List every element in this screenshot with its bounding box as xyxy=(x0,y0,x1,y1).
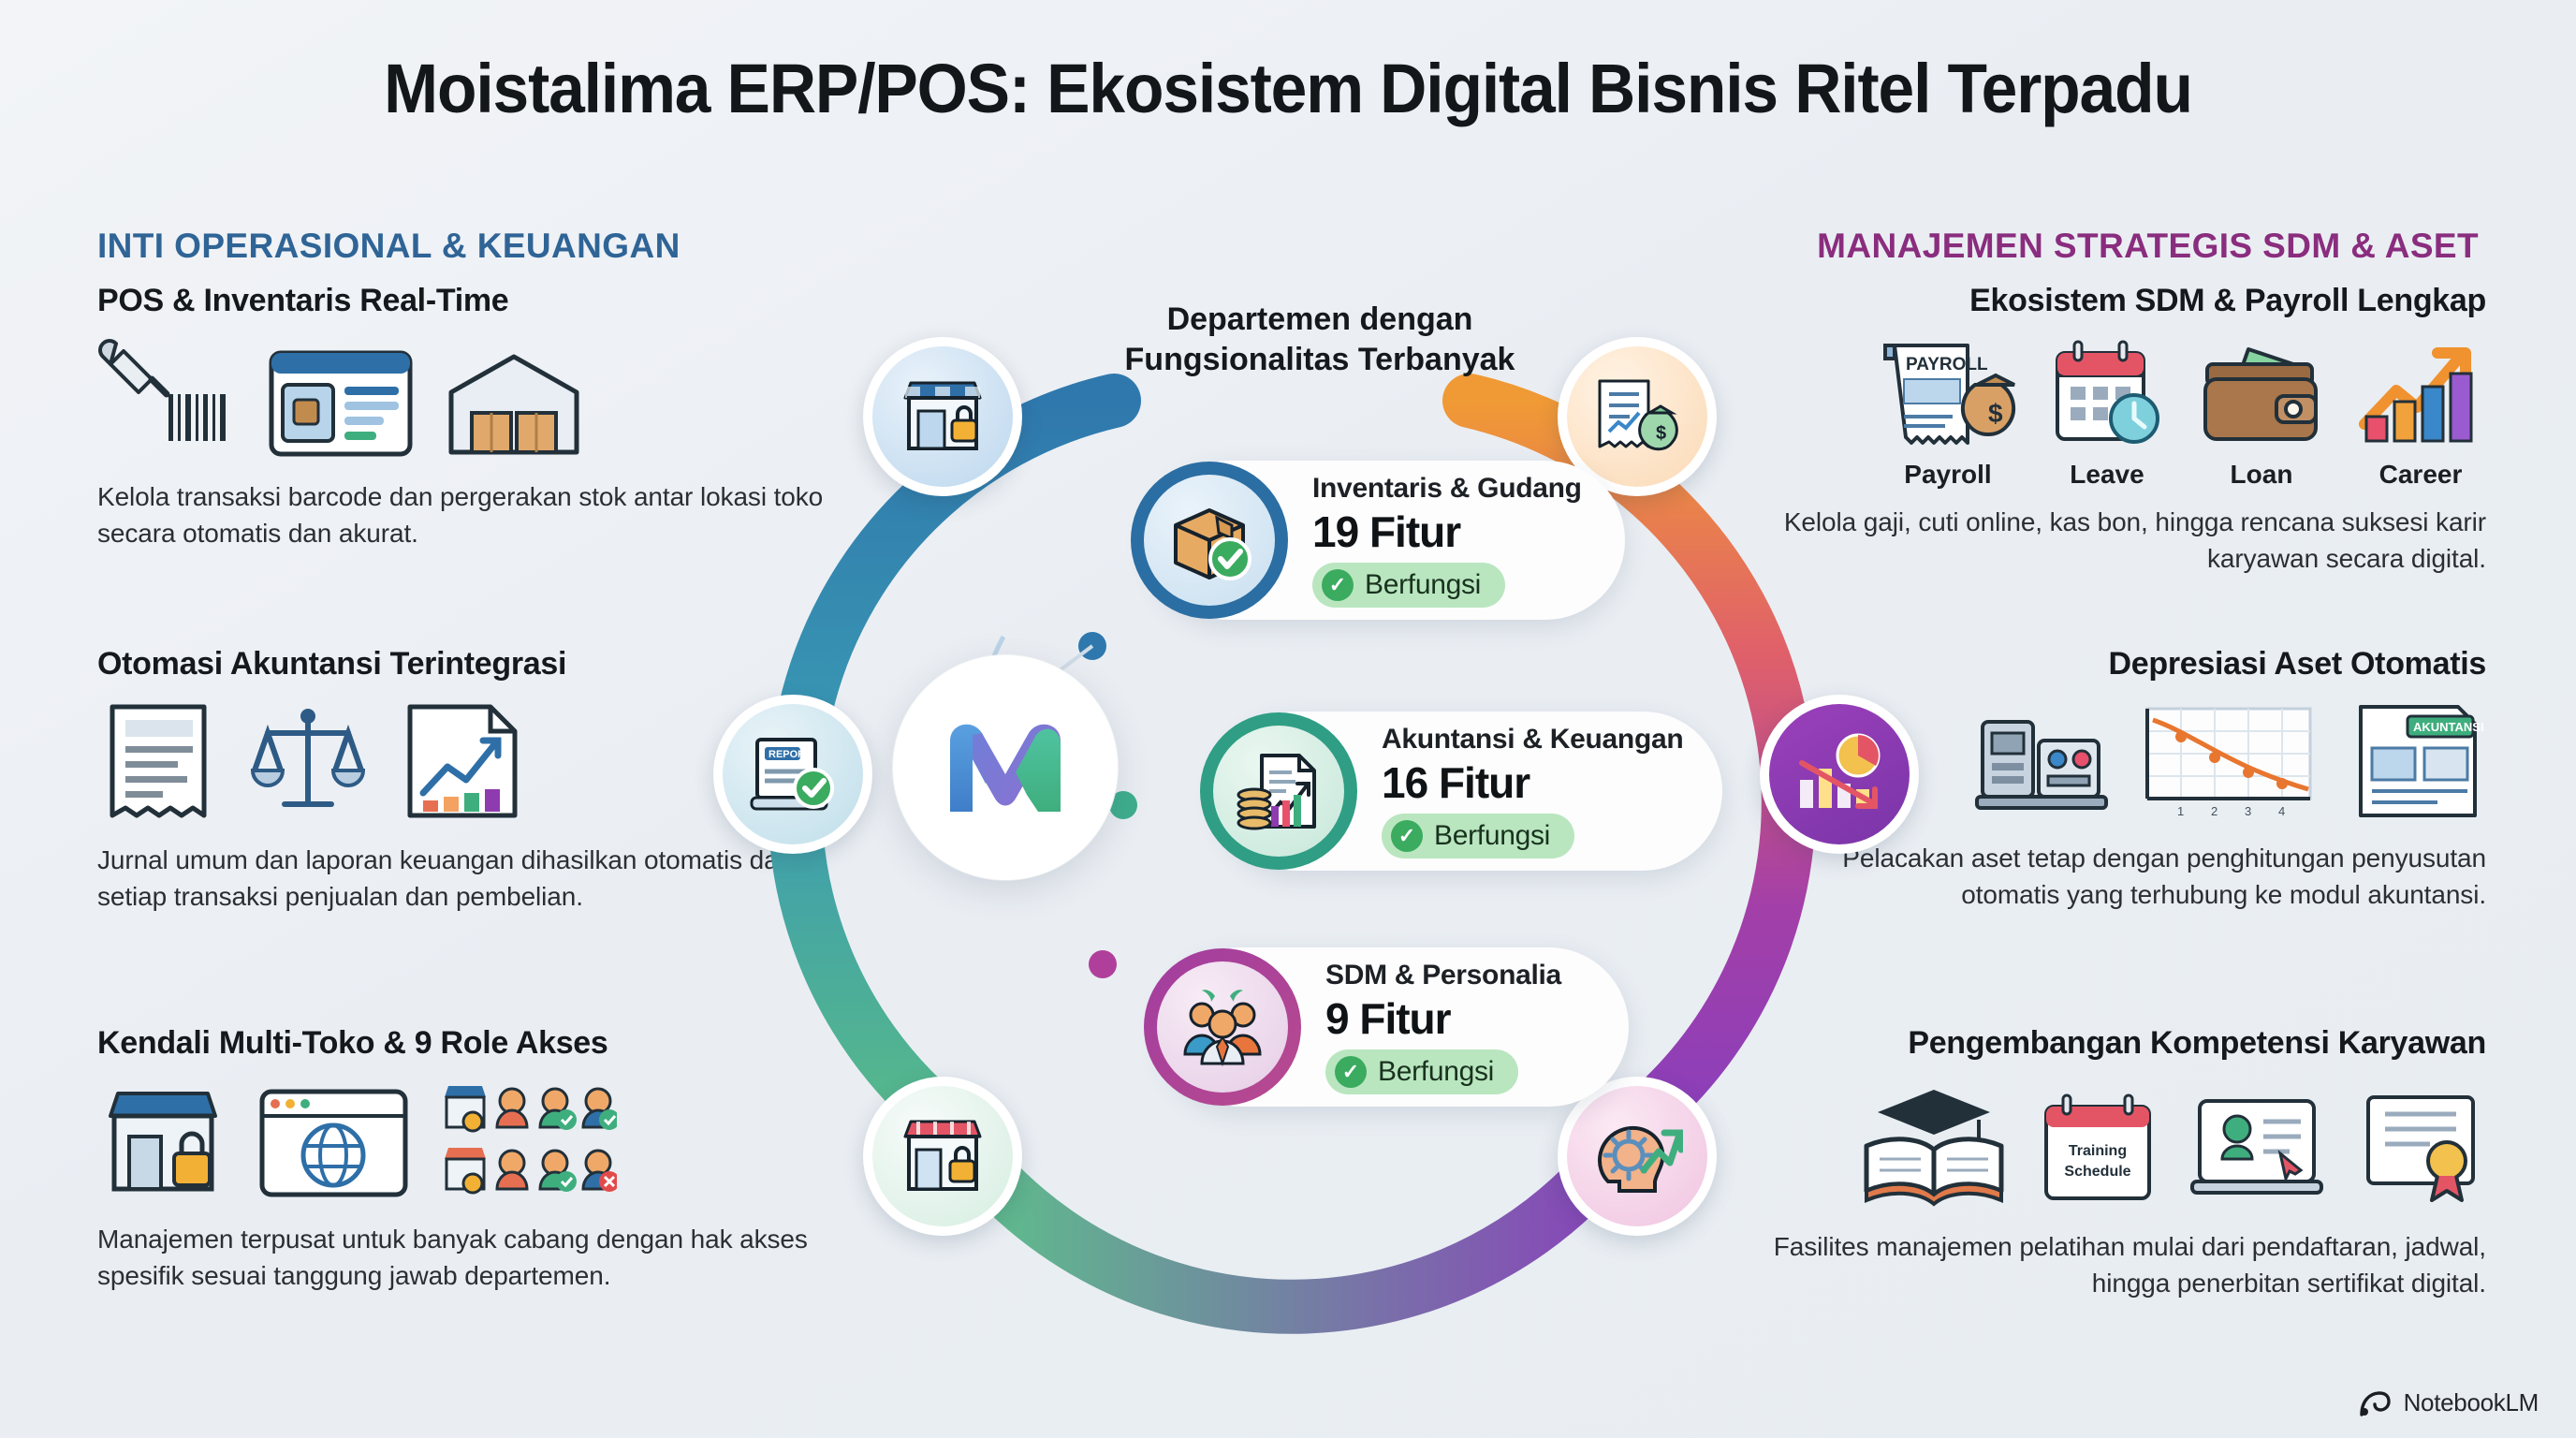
box-check-icon xyxy=(1164,497,1254,583)
check-icon: ✓ xyxy=(1322,569,1354,601)
receipt-icon xyxy=(97,699,219,828)
pos-terminal-icon xyxy=(266,347,416,464)
finance-report-coins-icon xyxy=(1234,748,1324,834)
check-icon: ✓ xyxy=(1391,820,1423,852)
department-text: SDM & Personalia 9 Fitur ✓ Berfungsi xyxy=(1301,960,1561,1094)
barcode-scanner-icon xyxy=(97,336,238,464)
page-title: Moistalima ERP/POS: Ekosistem Digital Bi… xyxy=(78,49,2499,128)
right-column-header: MANAJEMEN STRATEGIS SDM & ASET xyxy=(1817,227,2479,266)
icon-label: Payroll xyxy=(1904,460,1991,490)
status-label: Berfungsi xyxy=(1378,1056,1494,1088)
status-badge: ✓ Berfungsi xyxy=(1325,1049,1518,1094)
department-name: Akuntansi & Keuangan xyxy=(1382,724,1683,756)
depreciation-curve-icon: 1234 xyxy=(2140,699,2318,826)
svg-text:Training: Training xyxy=(2069,1143,2127,1159)
moistalima-m-logo-icon xyxy=(935,707,1076,829)
certificate-icon xyxy=(2355,1088,2486,1214)
department-icon-badge xyxy=(1144,948,1301,1106)
svg-text:1: 1 xyxy=(2177,804,2184,818)
department-card-inventory[interactable]: Inventaris & Gudang 19 Fitur ✓ Berfungsi xyxy=(1148,461,1625,620)
brand-logo-bubble xyxy=(893,655,1118,880)
svg-text:4: 4 xyxy=(2278,804,2285,818)
status-badge: ✓ Berfungsi xyxy=(1382,814,1574,858)
balance-scale-icon xyxy=(247,701,369,828)
storefront-lock-icon xyxy=(97,1084,228,1207)
skill-growth-icon xyxy=(1591,1114,1683,1198)
svg-text:2: 2 xyxy=(2211,804,2217,818)
svg-text:$: $ xyxy=(1988,399,2003,428)
department-count: 16 Fitur xyxy=(1382,757,1683,808)
check-icon: ✓ xyxy=(1335,1056,1367,1088)
footer-brand: NotebookLM xyxy=(2359,1388,2539,1417)
status-label: Berfungsi xyxy=(1365,569,1481,601)
training-schedule-icon: Training Schedule xyxy=(2037,1088,2159,1214)
icon-label: Career xyxy=(2379,460,2463,490)
svg-text:REPORT: REPORT xyxy=(768,749,812,760)
asset-ledger-icon: AKUNTANSI xyxy=(2346,699,2486,826)
report-check-icon: REPORT xyxy=(748,732,838,816)
left-column-header: INTI OPERASIONAL & KEUANGAN xyxy=(97,227,681,266)
department-count: 19 Fitur xyxy=(1312,506,1582,557)
warehouse-icon xyxy=(444,347,584,464)
footer-brand-label: NotebookLM xyxy=(2404,1388,2539,1417)
shop-secure-icon xyxy=(898,1114,988,1198)
svg-text:AKUNTANSI: AKUNTANSI xyxy=(2413,720,2484,734)
icon-label: Leave xyxy=(2070,460,2144,490)
center-heading: Departemen dengan Fungsionalitas Terbany… xyxy=(1058,300,1582,379)
svg-text:3: 3 xyxy=(2245,804,2251,818)
orbit-node-skill-growth[interactable] xyxy=(1558,1077,1717,1236)
analytics-pie-icon xyxy=(1793,731,1886,817)
orbit-node-shop-secure[interactable] xyxy=(863,1077,1022,1236)
orbit-node-store-lock[interactable] xyxy=(863,337,1022,496)
svg-text:$: $ xyxy=(1656,423,1666,444)
department-name: Inventaris & Gudang xyxy=(1312,473,1582,505)
career-growth-chart-icon: Career xyxy=(2355,336,2486,490)
wallet-cash-icon: Loan xyxy=(2196,336,2327,490)
status-label: Berfungsi xyxy=(1434,820,1550,852)
notebooklm-logo-icon xyxy=(2359,1389,2391,1417)
department-icon-badge xyxy=(1131,462,1288,619)
store-lock-icon xyxy=(898,375,988,458)
svg-text:Schedule: Schedule xyxy=(2064,1164,2130,1180)
department-text: Inventaris & Gudang 19 Fitur ✓ Berfungsi xyxy=(1288,473,1582,608)
department-icon-badge xyxy=(1200,712,1357,870)
status-badge: ✓ Berfungsi xyxy=(1312,563,1505,608)
icon-label: Loan xyxy=(2231,460,2293,490)
invoice-money-icon: $ xyxy=(1590,375,1684,458)
e-learning-icon xyxy=(2187,1088,2327,1214)
department-card-accounting[interactable]: Akuntansi & Keuangan 16 Fitur ✓ Berfungs… xyxy=(1217,712,1722,871)
svg-text:PAYROLL: PAYROLL xyxy=(1906,355,1988,374)
department-count: 9 Fitur xyxy=(1325,993,1561,1044)
orbit-node-analytics-pie[interactable] xyxy=(1760,695,1919,854)
user-roles-icon xyxy=(439,1078,617,1207)
department-text: Akuntansi & Keuangan 16 Fitur ✓ Berfungs… xyxy=(1357,724,1683,858)
calendar-clock-icon: Leave xyxy=(2046,336,2168,490)
globe-network-icon xyxy=(256,1084,411,1207)
department-card-hr[interactable]: SDM & Personalia 9 Fitur ✓ Berfungsi xyxy=(1161,947,1629,1107)
financial-report-icon xyxy=(397,699,528,828)
machine-asset-icon xyxy=(1971,699,2112,826)
infographic-canvas: Moistalima ERP/POS: Ekosistem Digital Bi… xyxy=(0,0,2576,1438)
department-name: SDM & Personalia xyxy=(1325,960,1561,991)
orbit-node-report-check[interactable]: REPORT xyxy=(713,695,872,854)
team-people-icon xyxy=(1178,985,1267,1069)
